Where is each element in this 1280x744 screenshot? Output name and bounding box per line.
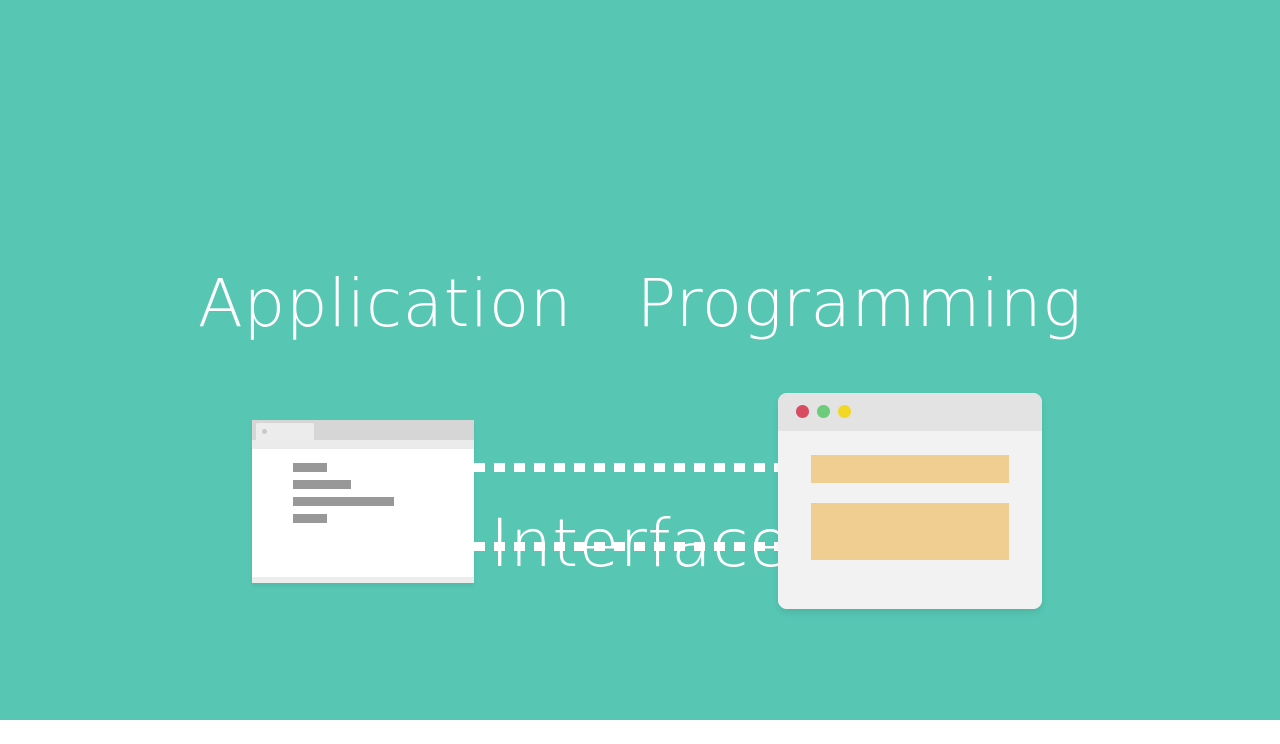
content-panel-top	[811, 455, 1009, 483]
zoom-dot-icon[interactable]	[838, 405, 851, 418]
tab-favicon-icon	[262, 429, 267, 434]
editor-tab[interactable]	[256, 423, 314, 440]
code-line	[293, 480, 351, 489]
browser-titlebar	[778, 393, 1042, 431]
api-response-line	[474, 542, 781, 551]
close-dot-icon[interactable]	[796, 405, 809, 418]
code-editor-window[interactable]	[252, 420, 474, 583]
api-request-line	[474, 463, 781, 472]
slide-canvas: Application Programming Interface	[0, 0, 1280, 720]
code-line	[293, 497, 394, 506]
editor-statusbar	[252, 577, 474, 583]
page-title: Application Programming Interface	[0, 104, 1280, 744]
code-line	[293, 514, 327, 523]
minimize-dot-icon[interactable]	[817, 405, 830, 418]
editor-titlebar	[252, 420, 474, 440]
editor-content-area	[252, 449, 474, 577]
editor-toolbar	[252, 440, 474, 449]
page-title-line-1: Application Programming	[0, 264, 1280, 344]
browser-content-area	[778, 431, 1042, 609]
code-line	[293, 463, 327, 472]
browser-window[interactable]	[778, 393, 1042, 609]
content-panel-bottom	[811, 503, 1009, 560]
